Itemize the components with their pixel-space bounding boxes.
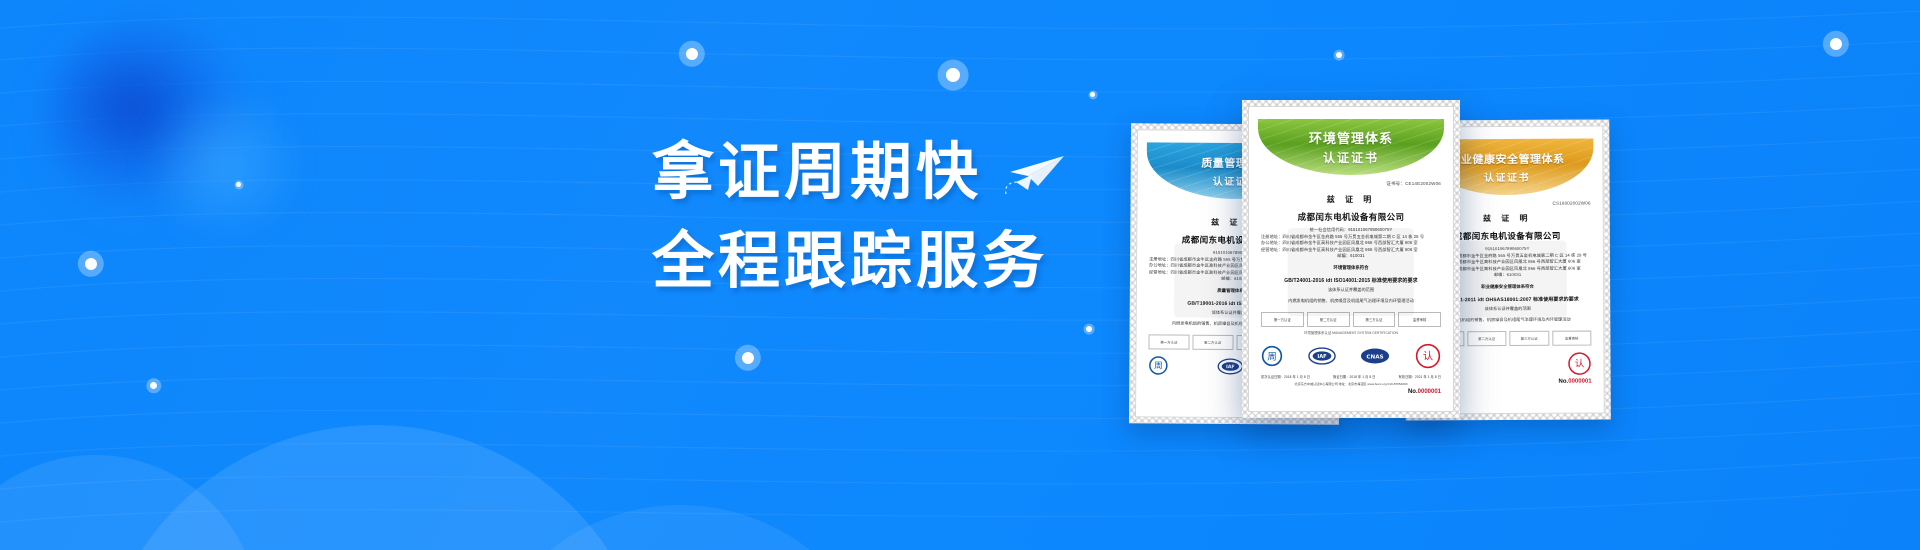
certificate-box: 第一方认证: [1148, 335, 1189, 350]
certificate-number-value: CE14E2002W06: [1405, 181, 1441, 186]
certificate-environment-dates: 初次认证日期：2018 年 1 月 8 日 换证日期：2018 年 1 月 8 …: [1261, 374, 1441, 379]
circle-decoration-b: [95, 425, 655, 550]
certificate-environment-standard: GB/T24001-2016 idt ISO14001:2015 标准使用要求的…: [1261, 277, 1441, 284]
certificate-environment-heading: 兹 证 明: [1261, 194, 1441, 205]
svg-text:认: 认: [1423, 349, 1433, 362]
svg-text:CNAS: CNAS: [1367, 354, 1384, 360]
red-stamp-icon: 认: [1567, 352, 1591, 376]
dot-decoration-2: [236, 182, 241, 187]
certificate-environment-seals: 周 IAF CNAS 认: [1261, 343, 1441, 369]
dot-decoration-5: [946, 68, 960, 82]
credit-code-value: 91510106789060075Y: [1348, 227, 1392, 232]
certificate-group: 质量管理体系 认证证书 CTJ1902002W06 兹 证 明 成都闰东电机设备…: [1120, 60, 1590, 490]
certificate-environment-title-line1: 环境管理体系: [1309, 128, 1393, 147]
certificate-environment[interactable]: 环境管理体系 认证证书 证书号：CE14E2002W06 兹 证 明 成都闰东电…: [1242, 100, 1460, 418]
certificate-environment-serial: No.0000001: [1261, 389, 1441, 395]
certificate-environment-address-2: 办公地址：四川省成都市金牛区高科技产业园区凤凰北 866 号西部智汇大厦 606…: [1261, 240, 1441, 247]
certificate-box: 第二方认证: [1467, 331, 1507, 346]
serial-value: 0000001: [1418, 389, 1441, 395]
cnas-seal-icon: CNAS: [1360, 347, 1390, 365]
certificate-box: 第二方认证: [1192, 335, 1233, 350]
issue-date-value: 2018 年 1 月 8 日: [1284, 375, 1310, 379]
certificate-environment-banner: 环境管理体系 认证证书: [1258, 119, 1444, 175]
iaf-seal-icon: IAF: [1217, 358, 1243, 375]
dot-decoration-6: [1090, 92, 1095, 97]
headline-line-1: 拿证周期快: [652, 140, 982, 207]
headline-line-2: 全程跟踪服务: [652, 229, 1072, 296]
cqc-seal-icon: 周: [1148, 356, 1168, 376]
promo-banner: 拿证周期快 全程跟踪服务 质量管理体系 认证证书: [0, 0, 1920, 550]
certificate-environment-body: 证书号：CE14E2002W06 兹 证 明 成都闰东电机设备有限公司 统一社会…: [1249, 175, 1453, 395]
dot-decoration-4: [686, 48, 698, 60]
issue-date: 初次认证日期：2018 年 1 月 8 日: [1261, 374, 1310, 379]
svg-text:周: 周: [1154, 362, 1163, 372]
serial-prefix: No.: [1559, 379, 1569, 385]
certificate-box: 监督审核: [1552, 331, 1592, 346]
reissue-date: 换证日期：2018 年 1 月 8 日: [1333, 374, 1375, 379]
certificate-environment-inner: 环境管理体系 认证证书 证书号：CE14E2002W06 兹 证 明 成都闰东电…: [1248, 106, 1454, 412]
certificate-number-label: 证书号：: [1386, 181, 1405, 186]
expire-date: 有效日期：2021 年 1 月 8 日: [1399, 374, 1441, 379]
certificate-environment-authority: 北京东方中诚认证中心有限公司 地址：北京市海淀区 www.bocc.org 01…: [1261, 381, 1441, 386]
certificate-environment-company: 成都闰东电机设备有限公司: [1261, 211, 1441, 223]
certificate-environment-number: 证书号：CE14E2002W06: [1261, 181, 1441, 187]
cqc-seal-icon: 周: [1261, 345, 1283, 367]
certificate-box: 监督审核: [1398, 312, 1441, 327]
serial-prefix: No.: [1408, 389, 1418, 395]
certificate-environment-postcode: 邮编：610031: [1261, 253, 1441, 260]
certificate-environment-title-line2: 认证证书: [1323, 149, 1379, 166]
svg-text:认: 认: [1575, 358, 1585, 370]
certificate-box: 第一方认证: [1261, 312, 1304, 327]
dot-decoration-1: [85, 258, 97, 270]
red-stamp-icon: 认: [1415, 343, 1441, 369]
reissue-date-value: 2018 年 1 月 8 日: [1349, 375, 1375, 379]
headline-row-1: 拿证周期快: [652, 140, 1072, 207]
certificate-safety-title-line2: 认证证书: [1484, 168, 1530, 183]
circle-decoration-a: [0, 455, 260, 550]
dot-decoration-9: [1086, 326, 1092, 332]
glow-blob-secondary-decoration: [150, 95, 300, 235]
paper-plane-icon: [998, 142, 1076, 198]
certificate-box: 第三方认证: [1353, 312, 1396, 327]
credit-code-label: 统一社会信用代码：: [1310, 227, 1349, 232]
glow-blob-decoration: [45, 18, 255, 218]
iaf-seal-icon: IAF: [1308, 347, 1336, 365]
dot-decoration-3: [150, 382, 157, 389]
dot-decoration-7: [1830, 38, 1842, 50]
headline-block: 拿证周期快 全程跟踪服务: [652, 140, 1072, 296]
certificate-box: 第三方认证: [1509, 331, 1549, 346]
certificate-environment-seal-caption: 环境管理体系认证 MANAGEMENT SYSTEM CERTIFICATION: [1261, 331, 1441, 336]
serial-value: 0000001: [1568, 379, 1591, 385]
certificate-safety-title-line1: 职业健康安全管理体系: [1449, 150, 1564, 167]
expire-date-label: 有效日期：: [1399, 375, 1415, 379]
certificate-environment-sub: 该体系认证并覆盖的范围: [1261, 287, 1441, 293]
svg-text:IAF: IAF: [1226, 364, 1235, 370]
circle-decoration-c: [470, 505, 890, 550]
svg-text:IAF: IAF: [1317, 354, 1327, 360]
svg-text:周: 周: [1267, 351, 1276, 362]
dot-decoration-10: [1336, 52, 1342, 58]
certificate-environment-scope-head: 环境管理体系符合: [1261, 265, 1441, 271]
dot-decoration-8: [742, 352, 754, 364]
certificate-environment-scope: 内燃发电机组的销售、机房噪音及机组尾气治理环境及内环管理活动: [1261, 298, 1441, 305]
certificate-box: 第二方认证: [1307, 312, 1350, 327]
certificate-environment-boxes: 第一方认证 第二方认证 第三方认证 监督审核: [1261, 312, 1441, 327]
issue-date-label: 初次认证日期：: [1261, 375, 1284, 379]
reissue-date-label: 换证日期：: [1333, 375, 1349, 379]
expire-date-value: 2021 年 1 月 8 日: [1415, 375, 1441, 379]
